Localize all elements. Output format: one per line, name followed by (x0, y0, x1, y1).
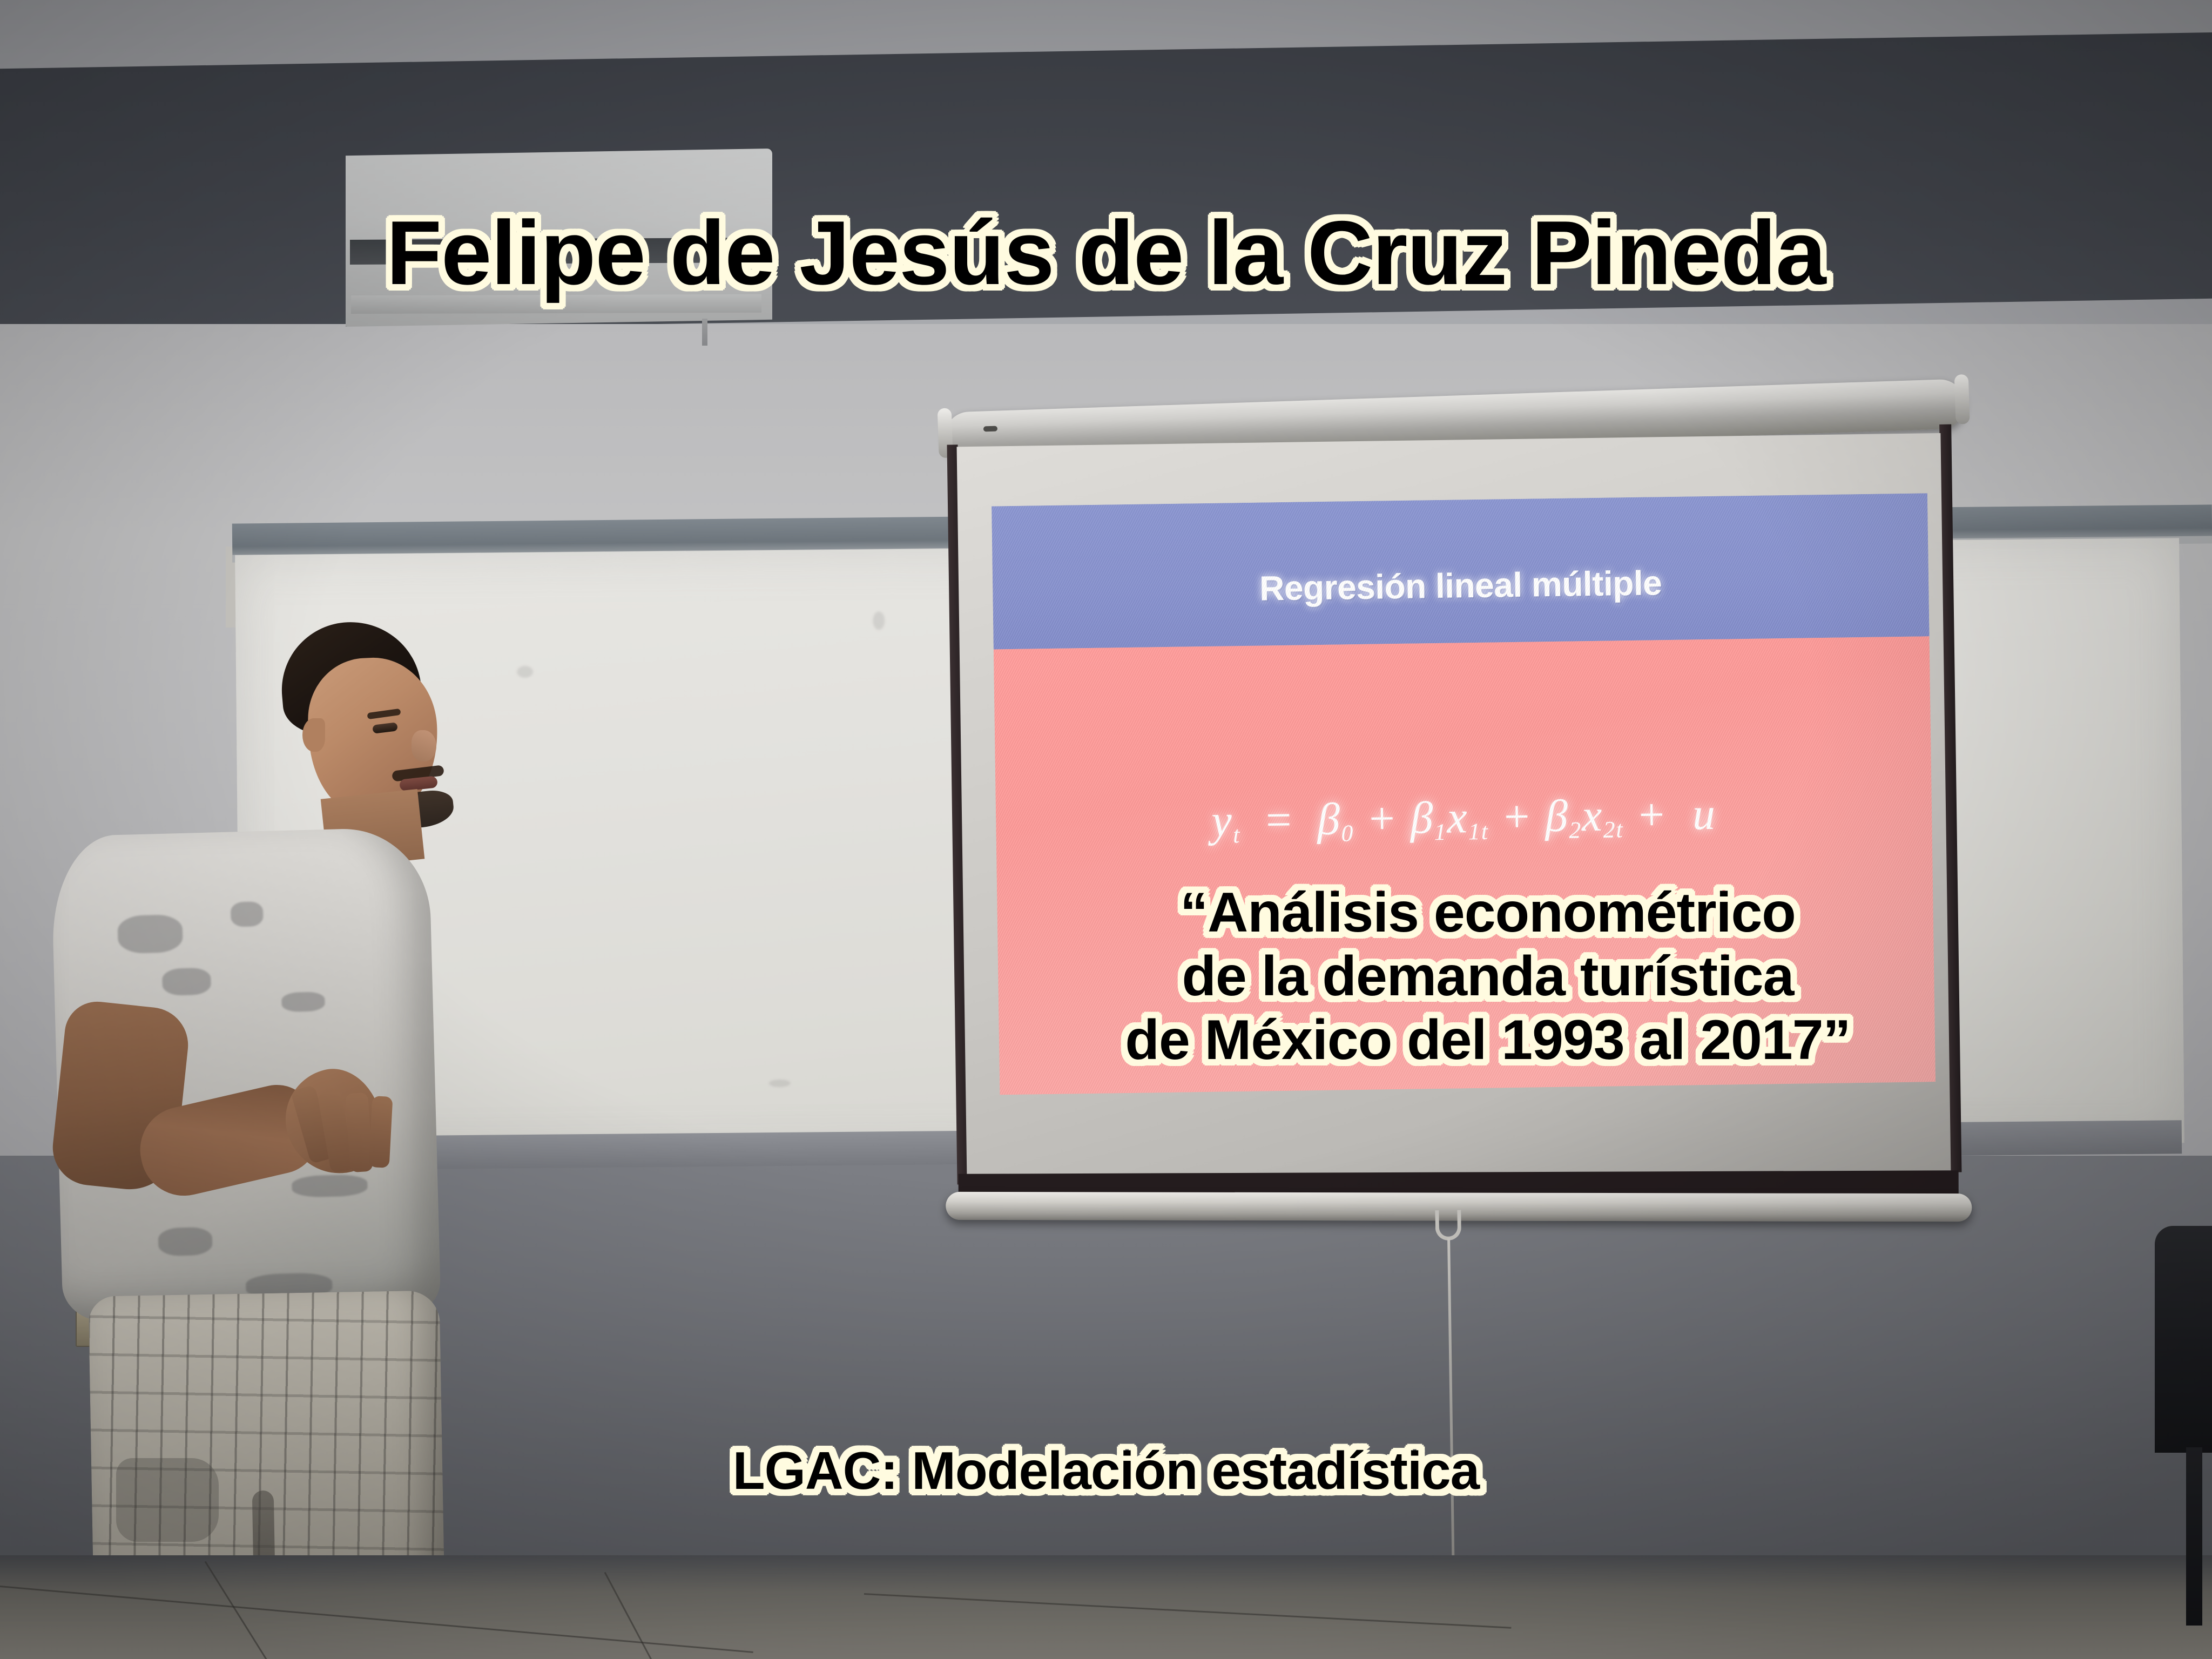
lgac-footer-caption: LGAC: Modelación estadística (0, 1444, 2212, 1497)
eq-x1-sub: 1t (1468, 819, 1489, 845)
roller-screw-icon (983, 426, 997, 432)
eq-plus-2: + (1501, 792, 1533, 842)
eq-beta0: β (1317, 794, 1341, 845)
eq-beta2: β (1545, 791, 1569, 842)
air-conditioner-drain (702, 319, 707, 346)
presenter-ear (302, 718, 325, 752)
eq-beta0-sub: 0 (1341, 820, 1354, 846)
eq-y-sub: t (1233, 822, 1241, 848)
presenter (0, 616, 594, 1659)
thesis-title-line-2: de la demanda turística (967, 948, 2009, 1004)
presentation-photo: Regresión lineal múltiple yt = β0 + β1x1… (0, 0, 2212, 1659)
thesis-title-line-3: de México del 1993 al 2017” (967, 1012, 2009, 1068)
eq-beta1: β (1410, 793, 1434, 844)
screen-pull-hook-icon[interactable] (1435, 1210, 1461, 1240)
eq-y: y (1211, 795, 1233, 846)
eq-plus-3: + (1636, 790, 1668, 840)
thesis-title-caption: “Análisis econométrico de la demanda tur… (967, 885, 2009, 1076)
presenter-finger (369, 1096, 393, 1168)
eq-beta2-sub: 2 (1569, 817, 1582, 843)
presenter-nose (412, 730, 436, 761)
eq-x1: x (1447, 792, 1469, 843)
eq-x2: x (1581, 791, 1603, 841)
presenter-name-caption: Felipe de Jesús de la Cruz Pineda (0, 207, 2212, 298)
eq-plus-1: + (1366, 793, 1398, 844)
tile-floor (0, 1555, 2212, 1659)
eq-x2-sub: 2t (1603, 817, 1624, 843)
chair (2155, 1226, 2212, 1453)
eq-u: u (1692, 789, 1716, 840)
eq-beta1-sub: 1 (1434, 819, 1448, 845)
thesis-title-line-1: “Análisis econométrico (967, 885, 2009, 941)
eq-equals: = (1263, 795, 1295, 846)
projection-screen-assembly[interactable]: Regresión lineal múltiple yt = β0 + β1x1… (950, 393, 2005, 1304)
